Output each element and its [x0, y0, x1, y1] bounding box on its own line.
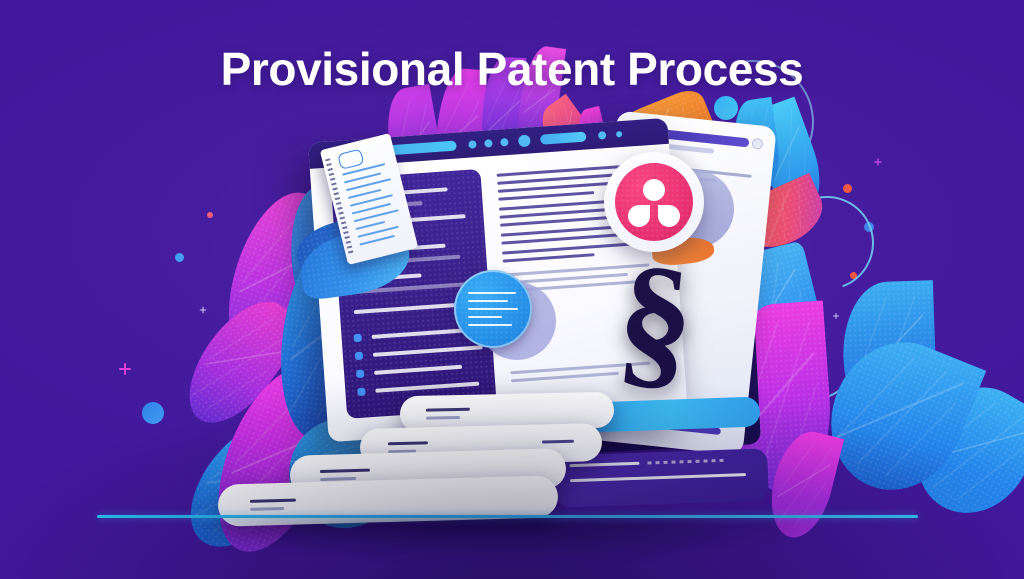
stamp-icon [337, 149, 364, 170]
decor-spark-magenta-left [119, 363, 131, 375]
browser-dot-icon [616, 131, 622, 137]
decor-spark-white-left [200, 307, 207, 314]
decor-spark-magenta-top [874, 158, 881, 165]
close-icon[interactable] [751, 138, 763, 150]
certification-seal [452, 268, 560, 366]
decor-dot-blue-small [175, 253, 184, 262]
list-bullet-icon [357, 388, 366, 397]
browser-dot-icon [518, 134, 531, 147]
illustration-canvas: § Provisional Pat [0, 0, 1024, 579]
ground-shadow [150, 518, 870, 578]
browser-dot-icon [500, 138, 509, 147]
decor-dot-pink-small [207, 212, 213, 218]
browser-dot-icon [484, 139, 493, 148]
user-icon [615, 163, 693, 241]
list-bullet-icon [355, 352, 364, 361]
browser-action-pill[interactable] [540, 132, 587, 145]
page-title: Provisional Patent Process [0, 45, 1024, 93]
user-badge [604, 152, 708, 256]
decor-dot-red-right [843, 184, 852, 193]
list-bullet-icon [356, 370, 365, 379]
browser-dot-icon [598, 131, 607, 140]
decor-spark-white-right [833, 313, 839, 319]
decor-dot-blue-left [142, 402, 164, 424]
ground-line [97, 515, 918, 518]
list-bullet-icon [353, 334, 362, 343]
section-symbol-icon: § [612, 257, 721, 392]
browser-dot-icon [468, 140, 477, 149]
